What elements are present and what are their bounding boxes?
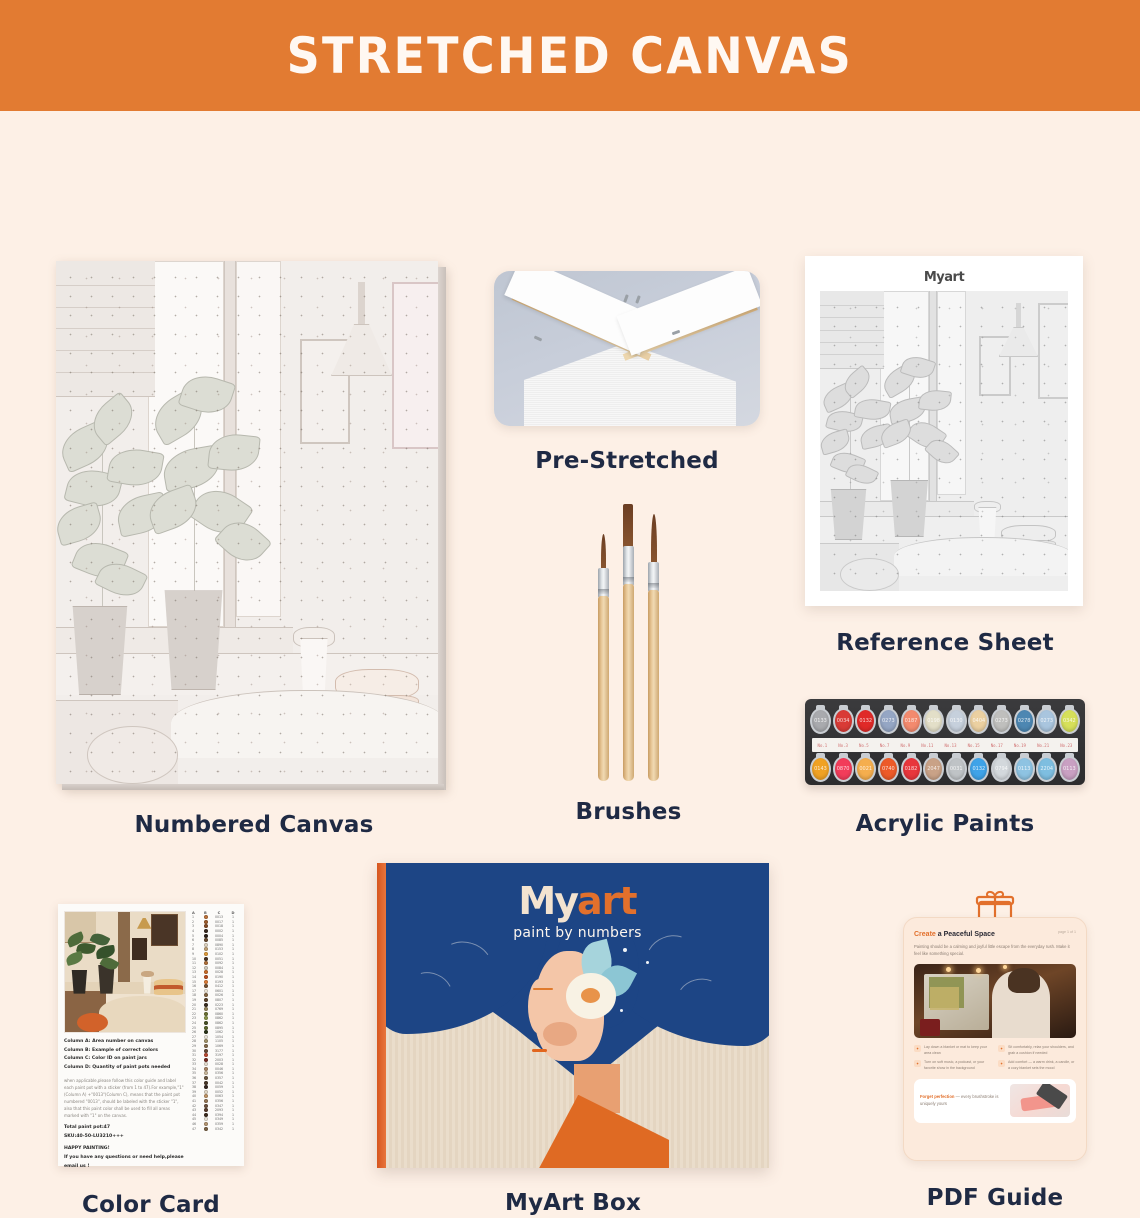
pdf-guide-item[interactable]: page 1 of 1 Create a Peaceful Space Pain…: [903, 889, 1087, 1211]
tip-item: ✦ Add comfort — a warm drink, a candle, …: [998, 1060, 1076, 1072]
color-card-item[interactable]: Column A: Area number on canvas Column B…: [58, 904, 244, 1218]
paint-pot: 0198: [923, 705, 944, 737]
numbered-canvas-image: [56, 261, 446, 790]
color-card-label: Color Card: [58, 1192, 244, 1218]
color-legend-row: 4503491: [190, 1117, 238, 1122]
color-id: 0860: [212, 1012, 226, 1016]
strip-number: No.23: [1060, 743, 1072, 748]
tip-icon: ✦: [914, 1060, 921, 1067]
pot-quantity: 1: [230, 1104, 236, 1108]
pot-quantity: 1: [230, 998, 236, 1002]
area-number: 10: [192, 957, 200, 961]
area-number: 25: [192, 1026, 200, 1030]
pot-quantity: 1: [230, 938, 236, 942]
box-tagline: paint by numbers: [386, 925, 769, 941]
pre-stretched-label: Pre-Stretched: [494, 448, 760, 474]
acrylic-paints-label: Acrylic Paints: [805, 811, 1085, 837]
pot-body: 0187: [901, 708, 922, 734]
area-number: 21: [192, 1007, 200, 1011]
brush-round-medium: [648, 514, 659, 781]
color-legend-row: 4320931: [190, 1108, 238, 1113]
color-swatch: [204, 957, 208, 961]
pot-id-label: 0273: [993, 710, 1010, 732]
color-swatch: [204, 1127, 208, 1131]
color-id: 0342: [212, 1127, 226, 1131]
area-number: 8: [192, 947, 200, 951]
color-swatch: [204, 1026, 208, 1030]
pot-body: 0794: [991, 756, 1012, 782]
color-legend-row: 708901: [190, 943, 238, 948]
pot-quantity: 1: [230, 952, 236, 956]
color-card-instructions: when applicable,please follow this color…: [64, 1077, 186, 1119]
color-legend-row: 2408621: [190, 1021, 238, 1026]
pot-body: 2047: [923, 756, 944, 782]
pot-quantity: 1: [230, 1081, 236, 1085]
color-legend-row: 2610621: [190, 1030, 238, 1035]
pot-id-label: 0021: [857, 758, 874, 780]
staple-icon: [534, 336, 543, 342]
paint-pot: 0034: [833, 705, 854, 737]
area-number: 40: [192, 1094, 200, 1098]
paint-pot: 0143: [810, 753, 831, 785]
color-legend-row: 3131971: [190, 1053, 238, 1058]
color-card-sheet: Column A: Area number on canvas Column B…: [58, 904, 244, 1166]
area-number: 9: [192, 952, 200, 956]
color-id: 2093: [212, 1108, 226, 1112]
pot-body: 0132: [968, 756, 989, 782]
color-legend-row: 4603591: [190, 1122, 238, 1127]
color-swatch: [204, 1044, 208, 1048]
pot-quantity: 1: [230, 1090, 236, 1094]
area-number: 19: [192, 998, 200, 1002]
brush-round-small: [598, 534, 609, 781]
color-id: 0051: [212, 957, 226, 961]
color-swatch: [204, 1104, 208, 1108]
pot-quantity: 1: [230, 1012, 236, 1016]
pot-body: 0198: [923, 708, 944, 734]
area-number: 5: [192, 934, 200, 938]
color-legend-row: 1706011: [190, 989, 238, 994]
color-legend-row: 1604121: [190, 984, 238, 989]
paint-pot: 0342: [1059, 705, 1080, 737]
pot-body: 2204: [1036, 756, 1057, 782]
pot-quantity: 1: [230, 1030, 236, 1034]
pot-body: 0034: [833, 708, 854, 734]
area-number: 43: [192, 1108, 200, 1112]
pot-body: 0342: [1059, 708, 1080, 734]
page-title: STRETCHED CANVAS: [287, 27, 853, 85]
pot-id-label: 0187: [903, 710, 920, 732]
pot-quantity: 1: [230, 1062, 236, 1066]
brush-flat: [623, 504, 634, 781]
color-id: 0769: [212, 1007, 226, 1011]
tip-icon: ✦: [998, 1060, 1005, 1067]
color-legend-row: 3800591: [190, 1085, 238, 1090]
strip-number: No.19: [1014, 743, 1026, 748]
color-id: 2003: [212, 1058, 226, 1062]
pbn-number-speckle: [56, 261, 438, 784]
color-swatch: [204, 1012, 208, 1016]
color-legend-row: 3300281: [190, 1062, 238, 1067]
paint-pot: 0113: [1059, 753, 1080, 785]
color-legend-row: 3220031: [190, 1057, 238, 1062]
color-id: 0084: [212, 966, 226, 970]
pot-id-label: 0034: [835, 710, 852, 732]
pot-quantity: 1: [230, 980, 236, 984]
staple-icon: [635, 295, 641, 304]
pot-quantity: 1: [230, 1085, 236, 1089]
color-id: 0193: [212, 980, 226, 984]
area-number: 31: [192, 1053, 200, 1057]
area-number: 11: [192, 961, 200, 965]
area-number: 6: [192, 938, 200, 942]
paint-pot: 0132: [855, 705, 876, 737]
pot-body: 0031: [946, 756, 967, 782]
reference-sheet-page: Myart: [805, 256, 1083, 606]
paint-pot: 0132: [968, 753, 989, 785]
pot-quantity: 1: [230, 970, 236, 974]
pot-body: 0740: [878, 756, 899, 782]
pot-quantity: 1: [230, 1113, 236, 1117]
pot-body: 0133: [810, 708, 831, 734]
sku-text: SKU:40-50-LU3210+++: [64, 1133, 186, 1142]
color-id: 0190: [212, 975, 226, 979]
color-legend-row: 801531: [190, 947, 238, 952]
pre-stretched-photo: [494, 271, 760, 426]
area-number: 39: [192, 1090, 200, 1094]
area-number: 15: [192, 980, 200, 984]
area-number: 20: [192, 1003, 200, 1007]
pot-quantity: 1: [230, 929, 236, 933]
myart-logo: Myart paint by numbers: [386, 879, 769, 941]
pdf-guide-label: PDF Guide: [903, 1185, 1087, 1211]
paint-pot: 0794: [991, 753, 1012, 785]
paint-pot: 0870: [833, 753, 854, 785]
pot-id-label: 0130: [948, 710, 965, 732]
myart-box-label: MyArt Box: [377, 1190, 769, 1216]
area-number: 38: [192, 1085, 200, 1089]
pot-body: 0404: [968, 708, 989, 734]
color-legend-row: 200171: [190, 920, 238, 925]
pot-quantity: 1: [230, 924, 236, 928]
area-number: 26: [192, 1030, 200, 1034]
color-legend-row: 4103561: [190, 1099, 238, 1104]
pdf-guide-page: page 1 of 1 Create a Peaceful Space Pain…: [903, 917, 1087, 1161]
color-id: 0153: [212, 947, 226, 951]
highlight-text: Forget perfection — every brushstroke is…: [920, 1094, 1005, 1107]
pot-quantity: 1: [230, 1016, 236, 1020]
pot-id-label: 2047: [925, 758, 942, 780]
total-paint-pot: Total paint pot:47: [64, 1124, 186, 1133]
color-legend-row: 4000631: [190, 1094, 238, 1099]
area-number: 17: [192, 989, 200, 993]
strip-number: No.5: [859, 743, 869, 748]
pot-id-label: 0198: [925, 710, 942, 732]
color-id: 0356: [212, 1071, 226, 1075]
color-id: 0092: [212, 961, 226, 965]
color-swatch: [204, 1067, 208, 1071]
color-legend-row: 3031771: [190, 1048, 238, 1053]
color-legend-row: 1200841: [190, 966, 238, 971]
color-id: 0807: [212, 998, 226, 1002]
paint-pot: 0021: [855, 753, 876, 785]
pot-quantity: 1: [230, 993, 236, 997]
color-swatch: [204, 934, 208, 938]
pdf-guide-subtitle: Painting should be a calming and joyful …: [914, 943, 1076, 958]
color-id: 0085: [212, 938, 226, 942]
brushes-item[interactable]: Brushes: [556, 496, 701, 825]
area-number: 47: [192, 1127, 200, 1131]
pot-id-label: 0273: [880, 710, 897, 732]
pot-quantity: 1: [230, 1049, 236, 1053]
area-number: 16: [192, 984, 200, 988]
color-swatch: [204, 1003, 208, 1007]
pot-body: 0113: [1059, 756, 1080, 782]
color-legend-row: 2508951: [190, 1025, 238, 1030]
strip-number: No.1: [818, 743, 828, 748]
pot-quantity: 1: [230, 957, 236, 961]
pot-quantity: 1: [230, 966, 236, 970]
color-id: 0394: [212, 1113, 226, 1117]
color-swatch: [204, 1058, 208, 1062]
heading-accent: Create: [914, 931, 936, 938]
pot-quantity: 1: [230, 1067, 236, 1071]
acrylic-paints-item[interactable]: 0133003401320273018701980130040402730278…: [805, 699, 1085, 837]
color-legend-row: 1501931: [190, 979, 238, 984]
area-number: 2: [192, 920, 200, 924]
color-legend-row: 2710541: [190, 1034, 238, 1039]
color-id: 0028: [212, 970, 226, 974]
color-id: 1054: [212, 1035, 226, 1039]
pot-id-label: 2204: [1038, 758, 1055, 780]
color-legend-row: 1000511: [190, 956, 238, 961]
color-card-legend: Column A: Area number on canvas Column B…: [64, 1038, 186, 1073]
area-number: 3: [192, 924, 200, 928]
color-id: 0063: [212, 1094, 226, 1098]
paint-pot-row-top: 0133003401320273018701980130040402730278…: [810, 705, 1080, 737]
pot-id-label: 0182: [903, 758, 920, 780]
area-number: 30: [192, 1049, 200, 1053]
pot-id-label: 0404: [970, 710, 987, 732]
pot-quantity: 1: [230, 915, 236, 919]
paint-pot: 0182: [901, 753, 922, 785]
pot-id-label: 0143: [812, 758, 829, 780]
color-id: 0862: [212, 1021, 226, 1025]
color-legend-row: 400021: [190, 929, 238, 934]
strip-number: No.17: [991, 743, 1003, 748]
pot-id-label: 0031: [948, 758, 965, 780]
color-id: 0002: [212, 929, 226, 933]
pot-id-label: 0278: [1016, 710, 1033, 732]
area-number: 35: [192, 1071, 200, 1075]
color-swatch: [204, 920, 208, 924]
color-swatch: [204, 1081, 208, 1085]
paint-pot: 0273: [1036, 705, 1057, 737]
color-id: 0890: [212, 943, 226, 947]
area-number: 45: [192, 1117, 200, 1121]
paint-pot: 0130: [946, 705, 967, 737]
pot-quantity: 1: [230, 961, 236, 965]
color-legend-row: 300181: [190, 924, 238, 929]
color-legend-row: 2910691: [190, 1044, 238, 1049]
color-id: 1062: [212, 1030, 226, 1034]
strip-number: No.21: [1037, 743, 1049, 748]
color-id: 0026: [212, 993, 226, 997]
reference-sheet-label: Reference Sheet: [805, 630, 1085, 656]
pdf-guide-photo: [914, 964, 1076, 1038]
strip-number: No.13: [944, 743, 956, 748]
area-number: 1: [192, 915, 200, 919]
pot-quantity: 1: [230, 934, 236, 938]
logo-my-text: My: [518, 879, 577, 923]
canvas-flap-right: [616, 271, 760, 356]
strip-number: No.9: [901, 743, 911, 748]
area-number: 32: [192, 1058, 200, 1062]
paint-pot: 2204: [1036, 753, 1057, 785]
area-number: 28: [192, 1039, 200, 1043]
pot-quantity: 1: [230, 1026, 236, 1030]
paint-pot: 0740: [878, 753, 899, 785]
color-id: 0347: [212, 1104, 226, 1108]
tip-icon: ✦: [914, 1045, 921, 1052]
box-spine: [377, 863, 386, 1168]
area-number: 12: [192, 966, 200, 970]
pot-body: 0182: [901, 756, 922, 782]
color-legend-row: 1300281: [190, 970, 238, 975]
myart-box-image: Myart paint by numbers: [377, 863, 769, 1168]
color-swatch: [204, 1049, 208, 1053]
color-legend-row: 3700421: [190, 1080, 238, 1085]
color-legend-row: 2811051: [190, 1039, 238, 1044]
brushes-image: [556, 496, 701, 781]
color-swatch: [204, 1090, 208, 1094]
area-number: 44: [192, 1113, 200, 1117]
color-id: 3177: [212, 1049, 226, 1053]
brushes-label: Brushes: [556, 799, 701, 825]
pot-quantity: 1: [230, 1108, 236, 1112]
area-number: 23: [192, 1016, 200, 1020]
area-number: 22: [192, 1012, 200, 1016]
pot-id-label: 0342: [1061, 710, 1078, 732]
pot-body: 0143: [810, 756, 831, 782]
color-legend-row: 901021: [190, 952, 238, 957]
pot-quantity: 1: [230, 1099, 236, 1103]
color-id: 0017: [212, 920, 226, 924]
paint-pot: 0278: [1014, 705, 1035, 737]
pbn-outline-scene: [56, 261, 438, 784]
reference-sheet-item[interactable]: Myart: [805, 256, 1085, 656]
pot-quantity: 1: [230, 1076, 236, 1080]
paint-pot: 0187: [901, 705, 922, 737]
color-legend-row: 3900521: [190, 1090, 238, 1095]
color-swatch: [204, 998, 208, 1002]
pot-body: 0021: [855, 756, 876, 782]
strip-number: No.15: [968, 743, 980, 748]
color-id: 0862: [212, 1016, 226, 1020]
tip-item: ✦ Lay down a blanket or mat to keep your…: [914, 1045, 992, 1057]
highlight-accent: Forget perfection: [920, 1094, 954, 1099]
myart-logo-text: Myart: [820, 270, 1068, 285]
pdf-guide-tips: ✦ Lay down a blanket or mat to keep your…: [914, 1045, 1076, 1072]
pot-quantity: 1: [230, 989, 236, 993]
pot-quantity: 1: [230, 1058, 236, 1062]
color-id: 0102: [212, 952, 226, 956]
color-legend-row: 1800261: [190, 993, 238, 998]
pot-id-label: 0113: [1061, 758, 1078, 780]
color-id: 0028: [212, 1062, 226, 1066]
pot-body: 0132: [855, 708, 876, 734]
color-legend-row: 2308621: [190, 1016, 238, 1021]
pot-quantity: 1: [230, 1117, 236, 1121]
pot-id-label: 0273: [1038, 710, 1055, 732]
color-id: 0359: [212, 1122, 226, 1126]
color-legend-row: 1100921: [190, 961, 238, 966]
area-number: 18: [192, 993, 200, 997]
pot-quantity: 1: [230, 1021, 236, 1025]
paint-tray: 0133003401320273018701980130040402730278…: [805, 699, 1085, 785]
paint-pot: 0113: [1014, 753, 1035, 785]
pot-quantity: 1: [230, 1094, 236, 1098]
color-legend-table: A B C D 10013120017130018140002150004160…: [190, 911, 238, 1159]
pre-stretched-item[interactable]: Pre-Stretched: [494, 271, 760, 474]
pot-quantity: 1: [230, 947, 236, 951]
color-id: 0357: [212, 1076, 226, 1080]
paint-pot: 0273: [878, 705, 899, 737]
area-number: 36: [192, 1076, 200, 1080]
finished-artwork-preview: [64, 911, 186, 1033]
area-number: 24: [192, 1021, 200, 1025]
pot-body: 0273: [878, 708, 899, 734]
color-id: 0018: [212, 924, 226, 928]
pot-id-label: 0740: [880, 758, 897, 780]
color-swatch: [204, 980, 208, 984]
color-id: 0046: [212, 1067, 226, 1071]
paint-pot-row-bottom: 0143087000210740018220470031013207940113…: [810, 753, 1080, 785]
color-legend-row: 500041: [190, 933, 238, 938]
area-number: 41: [192, 1099, 200, 1103]
color-legend-row: 4203471: [190, 1103, 238, 1108]
reference-artwork: [820, 291, 1068, 591]
color-id: 0349: [212, 1117, 226, 1121]
pot-quantity: 1: [230, 1007, 236, 1011]
color-card-footer: Total paint pot:47 SKU:40-50-LU3210+++ H…: [64, 1124, 186, 1172]
area-number: 4: [192, 929, 200, 933]
pot-quantity: 1: [230, 1044, 236, 1048]
color-id: 0356: [212, 1099, 226, 1103]
color-id: 3197: [212, 1053, 226, 1057]
color-id: 0412: [212, 984, 226, 988]
area-number: 34: [192, 1067, 200, 1071]
pot-quantity: 1: [230, 943, 236, 947]
color-id: 0052: [212, 1090, 226, 1094]
pdf-guide-highlight-card: Forget perfection — every brushstroke is…: [914, 1079, 1076, 1123]
tip-item: ✦ Turn on soft music, a podcast, or your…: [914, 1060, 992, 1072]
pot-quantity: 1: [230, 1127, 236, 1131]
strip-number: No.7: [880, 743, 890, 748]
pot-body: 0278: [1014, 708, 1035, 734]
color-id: 1069: [212, 1044, 226, 1048]
color-swatch: [204, 1122, 208, 1126]
myart-box-item[interactable]: Myart paint by numbers MyArt Box: [377, 863, 769, 1216]
area-number: 27: [192, 1035, 200, 1039]
pot-quantity: 1: [230, 920, 236, 924]
canvas-side-edge: [438, 267, 446, 790]
color-legend-row: 2002231: [190, 1002, 238, 1007]
color-legend-row: 4703421: [190, 1126, 238, 1131]
numbered-canvas-item[interactable]: Numbered Canvas: [56, 261, 452, 838]
canvas-face: [56, 261, 438, 784]
color-legend-row: 2208601: [190, 1011, 238, 1016]
